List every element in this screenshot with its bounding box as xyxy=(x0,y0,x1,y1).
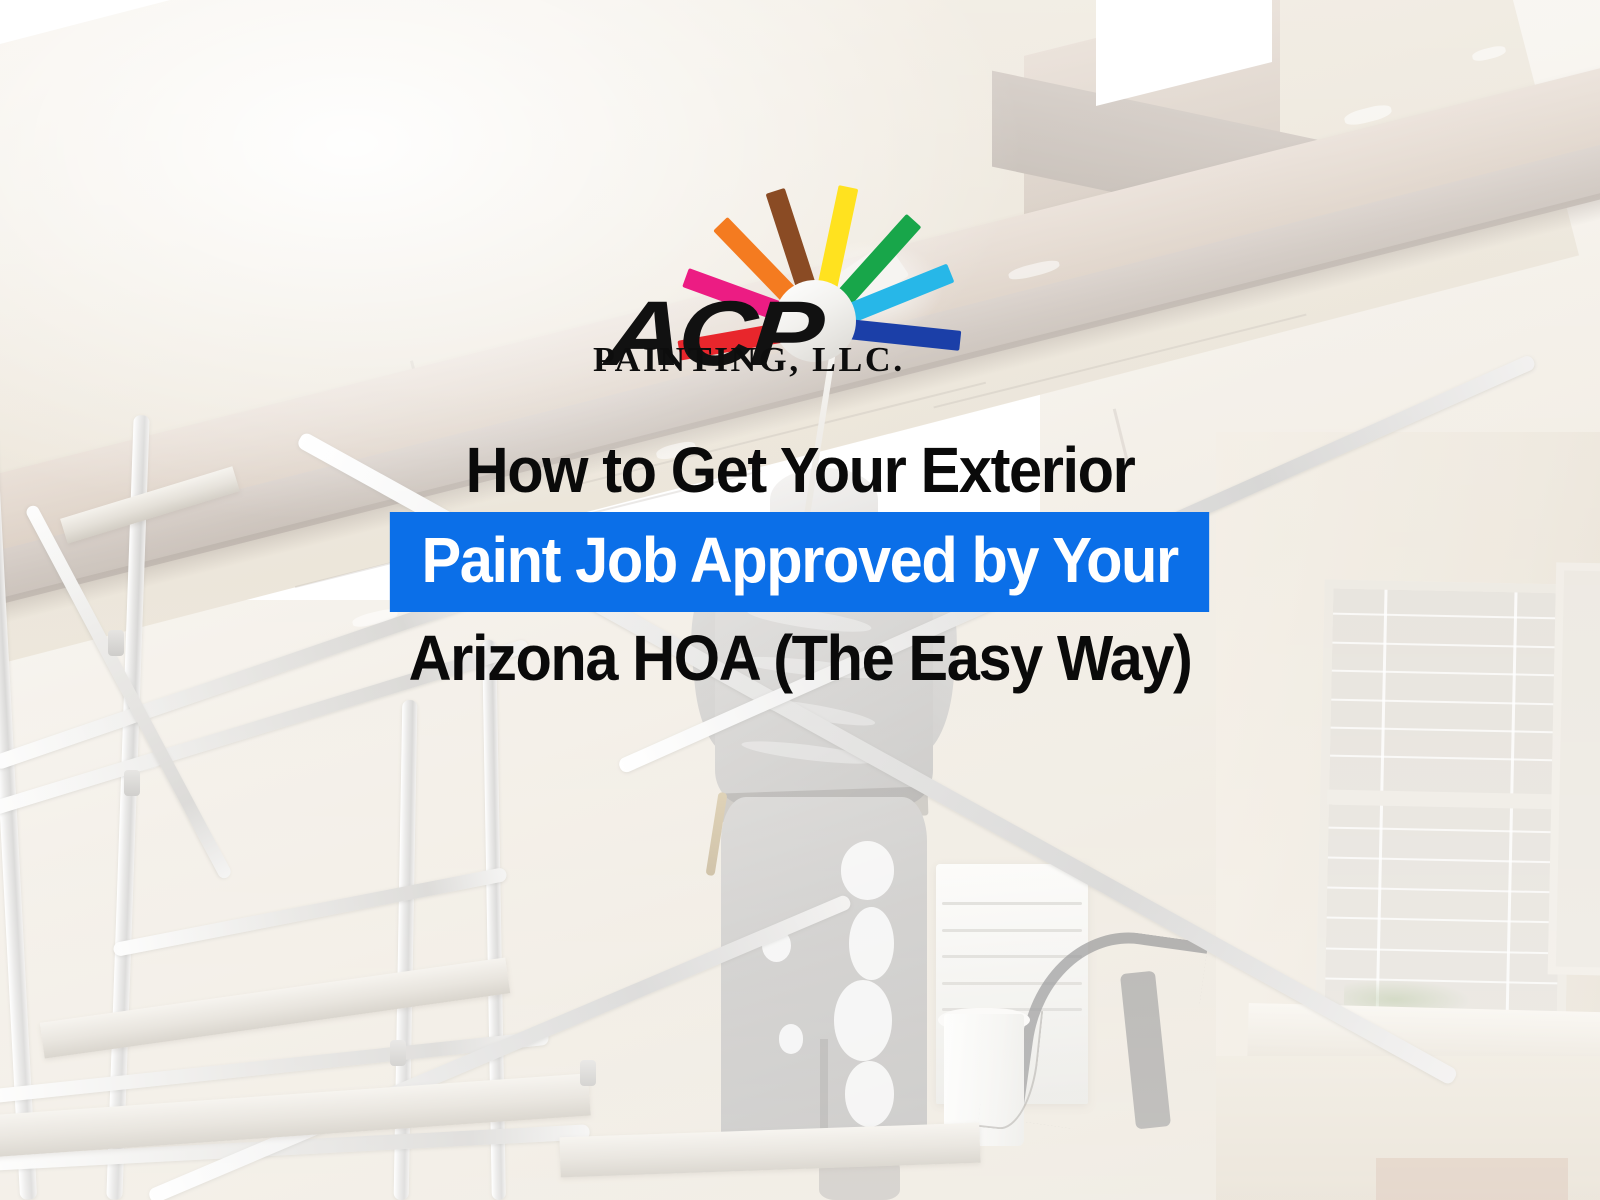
headline-line-2-highlighted: Paint Job Approved by Your xyxy=(390,512,1210,612)
headline-line-1: How to Get Your Exterior xyxy=(56,432,1544,512)
scaffold-plank xyxy=(559,1123,980,1178)
scaffold-ledger xyxy=(112,867,507,957)
scaffold-coupler xyxy=(124,770,140,796)
headline-line-3: Arizona HOA (The Easy Way) xyxy=(56,612,1544,690)
logo-subtitle: PAINTING, LLC. xyxy=(593,340,905,380)
scaffold-coupler xyxy=(580,1060,596,1086)
featured-image-canvas: ACP PAINTING, LLC. How to Get Your Exter… xyxy=(0,0,1600,1200)
scaffold-coupler xyxy=(390,1040,406,1066)
headline-highlight-wrapper: Paint Job Approved by Your xyxy=(0,512,1600,612)
headline-block: How to Get Your Exterior Paint Job Appro… xyxy=(0,432,1600,690)
acp-logo: ACP PAINTING, LLC. xyxy=(588,192,988,392)
